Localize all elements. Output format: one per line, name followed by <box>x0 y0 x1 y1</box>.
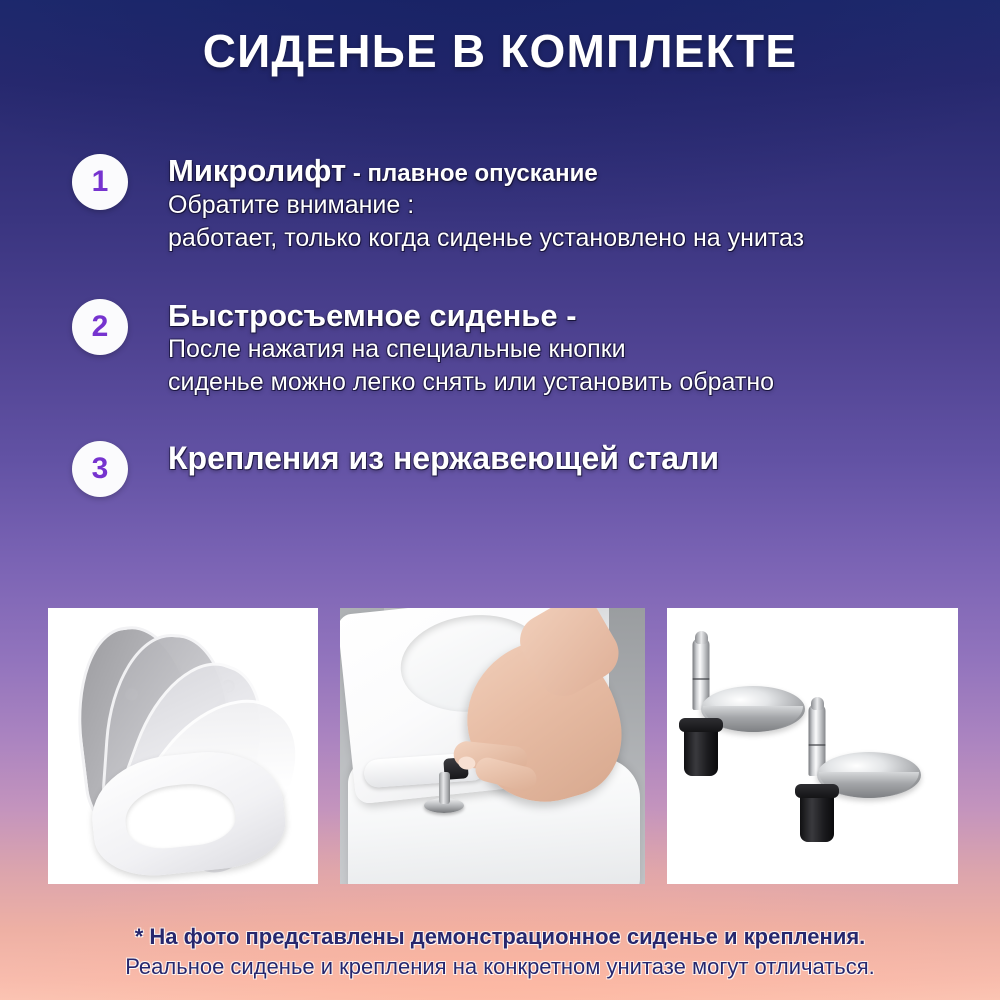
feature-item-1: 1 Микролифт - плавное опускание Обратите… <box>72 152 982 255</box>
feature-number-badge-2: 2 <box>72 299 128 355</box>
photo-toilet-seat-soft-close-sequence <box>48 608 318 884</box>
feature-heading-1: Микролифт - плавное опускание <box>168 154 804 189</box>
photo-hand-removing-seat-from-bowl <box>340 608 645 884</box>
feature-number-badge-3: 3 <box>72 441 128 497</box>
footnote: * На фото представлены демонстрационное … <box>0 922 1000 982</box>
footnote-line-2: Реальное сиденье и крепления на конкретн… <box>0 952 1000 982</box>
feature-heading-3: Крепления из нержавеющей стали <box>168 441 719 477</box>
feature-number-badge-1: 1 <box>72 154 128 210</box>
feature-text-2: Быстросъемное сиденье - После нажатия на… <box>168 297 774 400</box>
seat-lid-sequence-illustration <box>48 608 318 884</box>
fixing-rubber-plug <box>800 790 834 842</box>
fixing-rubber-plug <box>684 724 718 776</box>
feature-line-2-1: После нажатия на специальные кнопки <box>168 333 774 366</box>
feature-text-3: Крепления из нержавеющей стали <box>168 439 719 477</box>
footnote-line-1: * На фото представлены демонстрационное … <box>0 922 1000 952</box>
fixings-illustration <box>667 608 958 884</box>
feature-heading-2: Быстросъемное сиденье - <box>168 299 774 334</box>
feature-line-1-1: Обратите внимание : <box>168 189 804 222</box>
feature-line-1-2: работает, только когда сиденье установле… <box>168 222 804 255</box>
product-infographic-poster: СИДЕНЬЕ В КОМПЛЕКТЕ 1 Микролифт - плавно… <box>0 0 1000 1000</box>
feature-heading-main-1: Микролифт <box>168 153 346 188</box>
feature-text-1: Микролифт - плавное опускание Обратите в… <box>168 152 804 255</box>
mounting-post-shaft <box>439 772 450 804</box>
page-title: СИДЕНЬЕ В КОМПЛЕКТЕ <box>0 24 1000 78</box>
bowl-scene-illustration <box>340 608 645 884</box>
feature-item-3: 3 Крепления из нержавеющей стали <box>72 439 982 497</box>
feature-list: 1 Микролифт - плавное опускание Обратите… <box>72 152 982 497</box>
feature-line-2-2: сиденье можно легко снять или установить… <box>168 366 774 399</box>
feature-heading-tail-1: - плавное опускание <box>346 160 598 187</box>
photo-strip <box>48 608 958 884</box>
photo-stainless-steel-mounting-fixings <box>667 608 958 884</box>
feature-item-2: 2 Быстросъемное сиденье - После нажатия … <box>72 297 982 400</box>
